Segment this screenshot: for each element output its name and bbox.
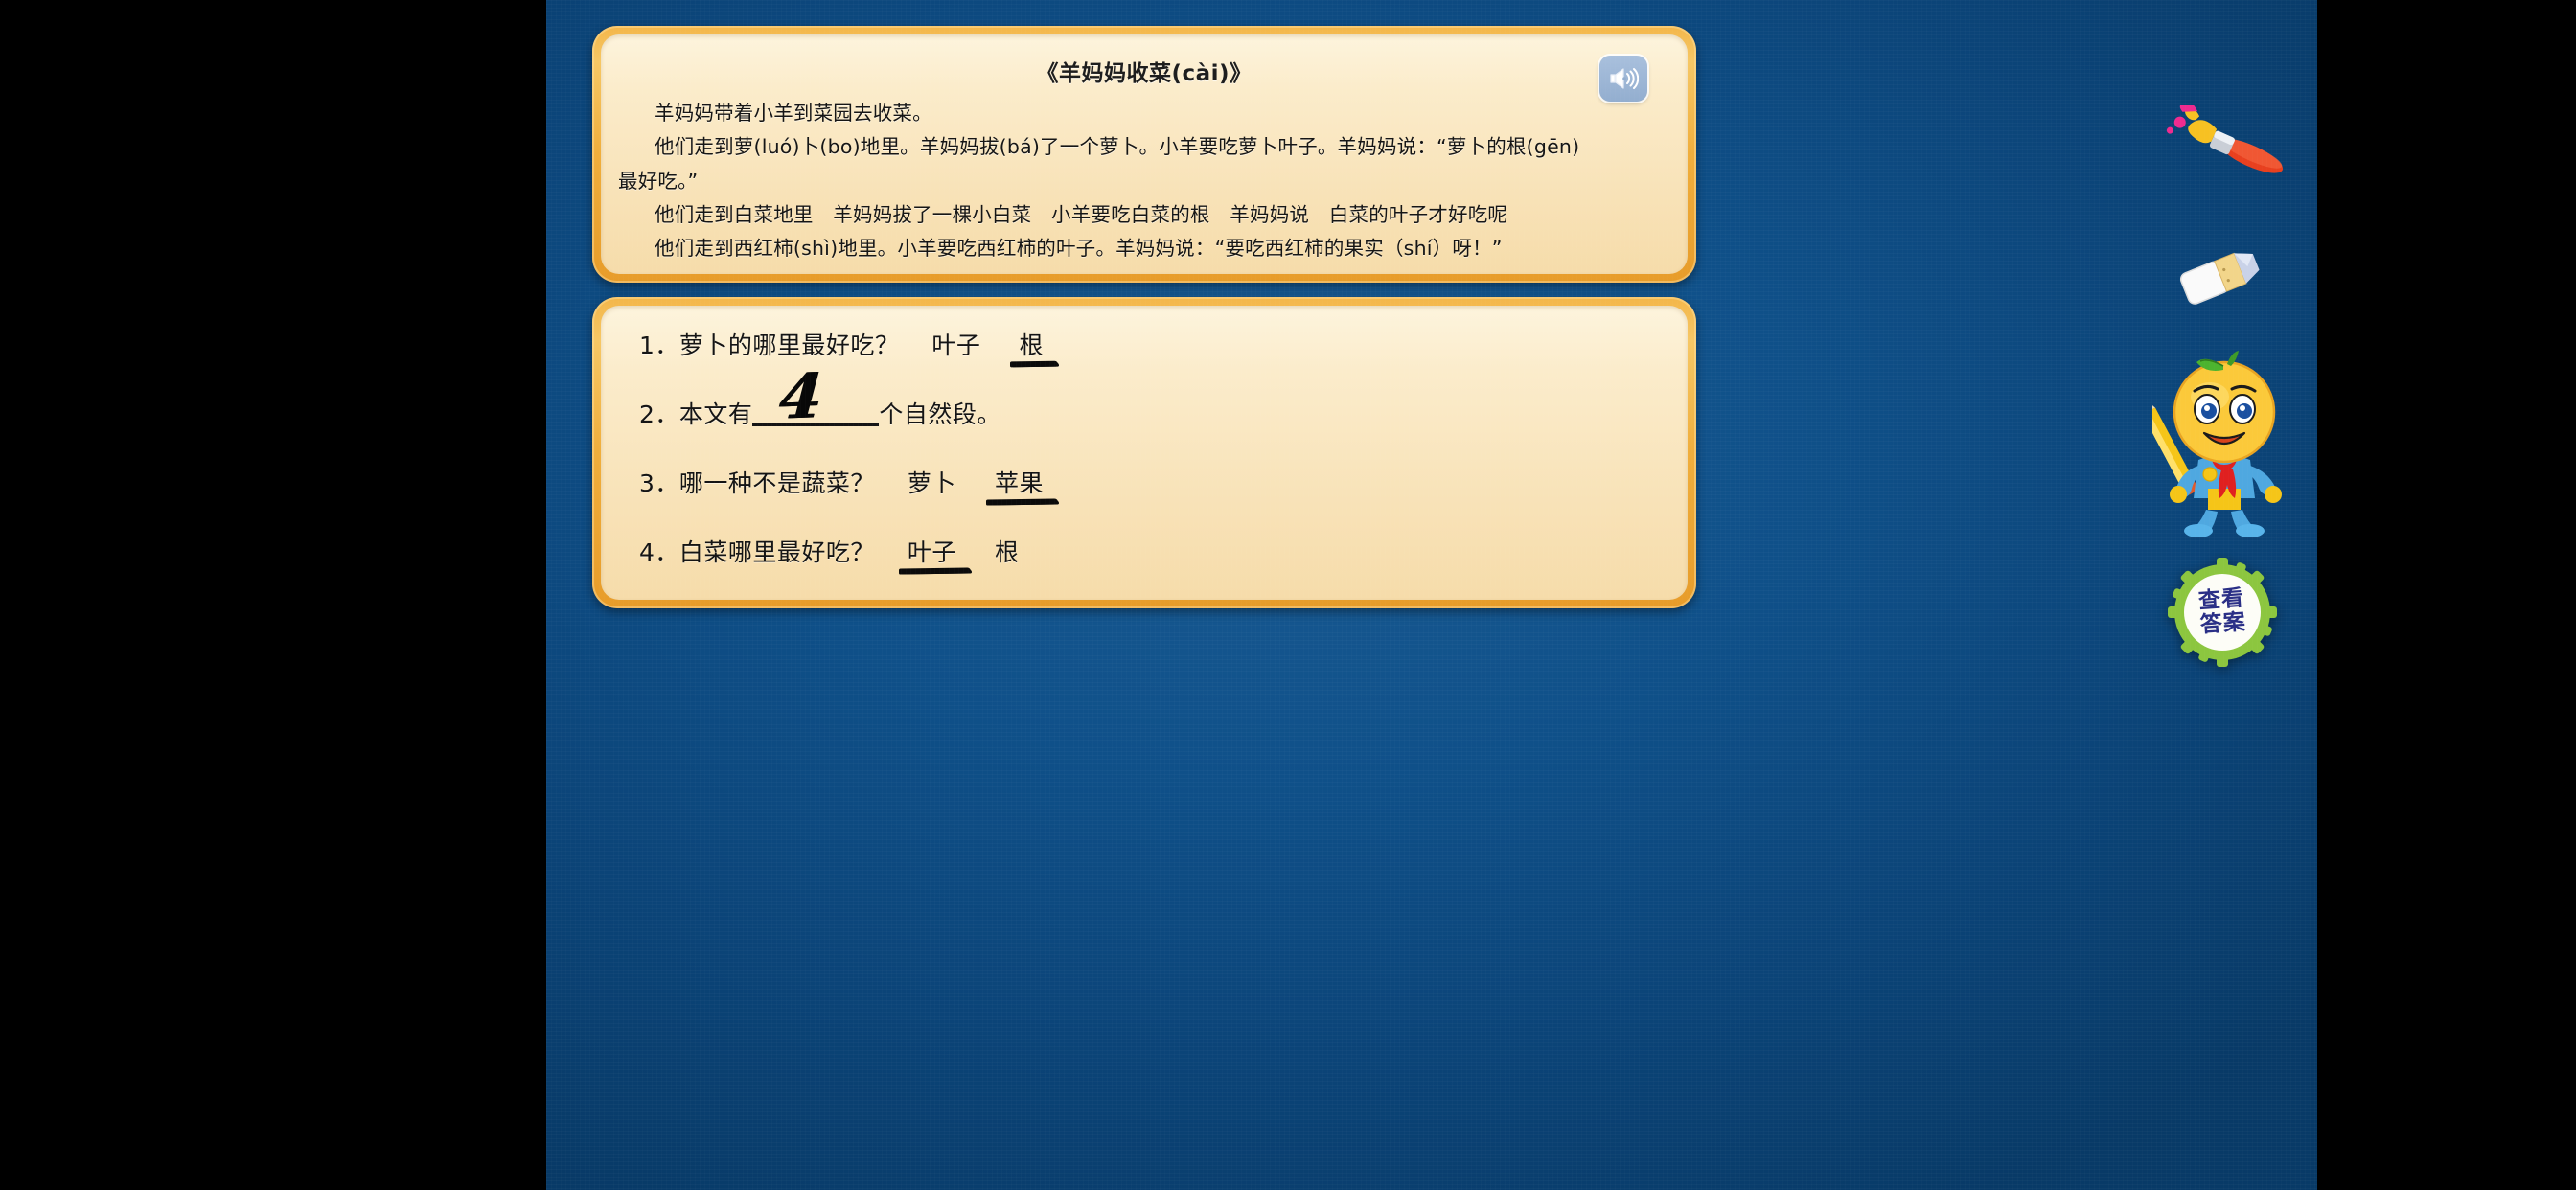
- question-option-selected[interactable]: 苹果: [989, 461, 1049, 507]
- question-text: 哪一种不是蔬菜？: [679, 469, 875, 497]
- question-option[interactable]: 叶子: [926, 323, 986, 369]
- questions-panel-inner: 1．萝卜的哪里最好吃？叶子根 2．本文有4个自然段。 3．哪一种不是蔬菜？萝卜苹…: [601, 306, 1688, 600]
- question-text-suffix: 个自然段。: [879, 400, 1001, 428]
- passage-panel: 《羊妈妈收菜(cài)》 羊妈妈带着小羊到菜园去收菜。 他们走到萝(luó)卜(…: [592, 26, 1696, 283]
- fill-blank-input[interactable]: 4: [752, 423, 879, 426]
- passage-title: 《羊妈妈收菜(cài)》: [601, 55, 1688, 87]
- question-row: 2．本文有4个自然段。: [639, 392, 1688, 461]
- question-text: 萝卜的哪里最好吃？: [679, 332, 900, 359]
- question-option[interactable]: 根: [989, 530, 1025, 576]
- passage-line: 他们走到白菜地里 羊妈妈拔了一棵小白菜 小羊要吃白菜的根 羊妈妈说 白菜的叶子才…: [618, 198, 1670, 232]
- question-number: 4．: [639, 538, 679, 566]
- screen: 《羊妈妈收菜(cài)》 羊妈妈带着小羊到菜园去收菜。 他们走到萝(luó)卜(…: [0, 0, 2576, 1190]
- question-option[interactable]: 萝卜: [902, 461, 962, 507]
- speaker-icon[interactable]: [1599, 56, 1647, 102]
- question-row: 4．白菜哪里最好吃？叶子根: [639, 530, 1688, 599]
- questions-panel: 1．萝卜的哪里最好吃？叶子根 2．本文有4个自然段。 3．哪一种不是蔬菜？萝卜苹…: [592, 297, 1696, 608]
- question-option-selected[interactable]: 叶子: [902, 530, 962, 576]
- passage-line: 羊妈妈带着小羊到菜园去收菜。: [618, 97, 1670, 130]
- question-text: 白菜哪里最好吃？: [679, 538, 875, 566]
- paintbrush-icon[interactable]: [2166, 105, 2290, 182]
- question-number: 2．: [639, 400, 679, 428]
- handwritten-answer: 4: [777, 366, 825, 429]
- passage-body: 羊妈妈带着小羊到菜园去收菜。 他们走到萝(luó)卜(bo)地里。羊妈妈拔(bá…: [601, 87, 1688, 265]
- question-number: 1．: [639, 332, 679, 359]
- question-option-selected[interactable]: 根: [1013, 323, 1049, 369]
- question-list: 1．萝卜的哪里最好吃？叶子根 2．本文有4个自然段。 3．哪一种不是蔬菜？萝卜苹…: [601, 306, 1688, 599]
- passage-panel-inner: 《羊妈妈收菜(cài)》 羊妈妈带着小羊到菜园去收菜。 他们走到萝(luó)卜(…: [601, 34, 1688, 274]
- passage-line: 他们走到西红柿(shì)地里。小羊要吃西红柿的叶子。羊妈妈说：“要吃西红柿的果实…: [618, 232, 1670, 265]
- passage-line: 他们走到萝(luó)卜(bo)地里。羊妈妈拔(bá)了一个萝卜。小羊要吃萝卜叶子…: [618, 130, 1670, 164]
- question-number: 3．: [639, 469, 679, 497]
- app-canvas: 《羊妈妈收菜(cài)》 羊妈妈带着小羊到菜园去收菜。 他们走到萝(luó)卜(…: [546, 0, 2317, 1190]
- view-answer-label: 查看 答案: [2184, 586, 2260, 639]
- question-text: 本文有: [679, 400, 753, 428]
- passage-line: 最好吃。”: [618, 165, 1670, 198]
- question-row: 3．哪一种不是蔬菜？萝卜苹果: [639, 461, 1688, 530]
- view-answer-button[interactable]: 查看 答案: [2166, 556, 2279, 669]
- orange-mascot-character[interactable]: [2152, 345, 2296, 537]
- eraser-icon[interactable]: [2169, 235, 2274, 317]
